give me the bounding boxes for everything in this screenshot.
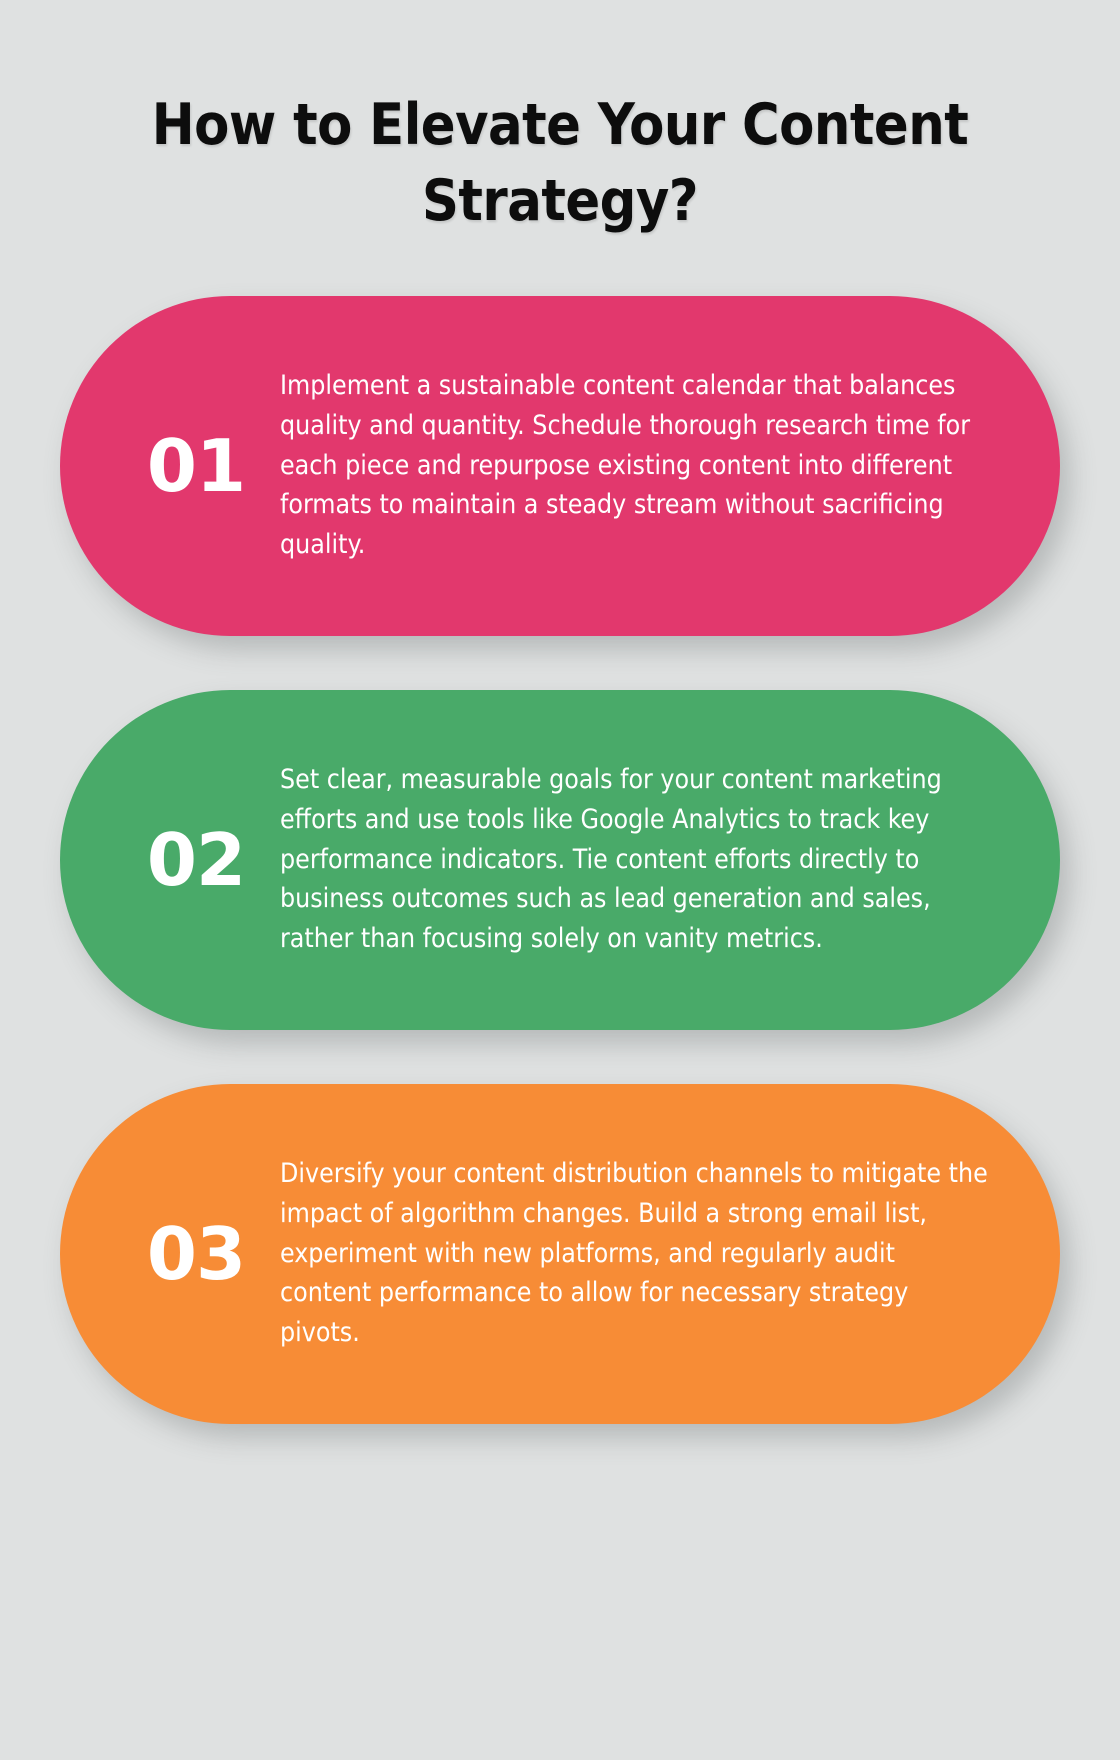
step-description: Implement a sustainable content calendar…	[280, 366, 998, 565]
step-number-badge: 02	[112, 824, 280, 896]
list-item-step-2: 02 Set clear, measurable goals for your …	[60, 690, 1060, 1030]
list-item-step-3: 03 Diversify your content distribution c…	[60, 1084, 1060, 1424]
step-description: Diversify your content distribution chan…	[280, 1154, 998, 1353]
step-number-badge: 03	[112, 1218, 280, 1290]
step-number-badge: 01	[112, 430, 280, 502]
infographic-page: How to Elevate Your Content Strategy? 01…	[0, 0, 1120, 1760]
page-title: How to Elevate Your Content Strategy?	[0, 0, 1120, 240]
list-item-step-1: 01 Implement a sustainable content calen…	[60, 296, 1060, 636]
steps-list: 01 Implement a sustainable content calen…	[0, 296, 1120, 1424]
step-description: Set clear, measurable goals for your con…	[280, 760, 998, 959]
